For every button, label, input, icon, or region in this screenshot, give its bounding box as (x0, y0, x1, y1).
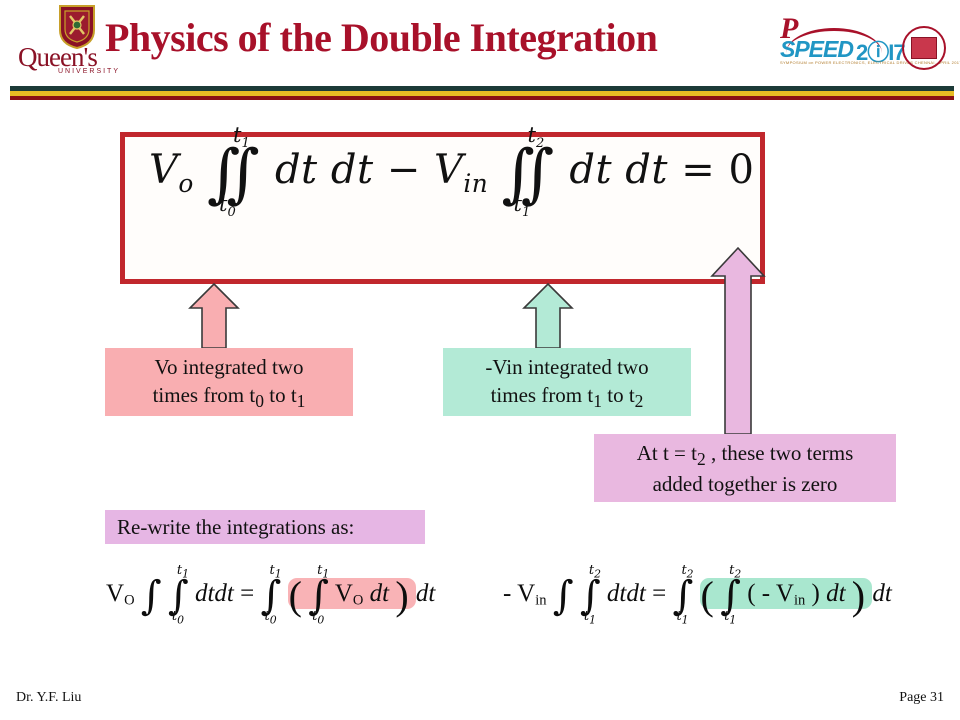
beq-left-rhs-integral-icon: ∫ t1 t0 (261, 582, 282, 610)
beq-right-open-paren: ( (701, 573, 714, 618)
rewrite-label-box: Re-write the integrations as: (105, 510, 425, 544)
page-title: Physics of the Double Integration (105, 14, 805, 61)
beq-right-inner-close-paren: ) (812, 580, 820, 607)
divider-stripe-red (10, 96, 954, 100)
rewrite-label-text: Re-write the integrations as: (117, 515, 354, 539)
footer-author: Dr. Y.F. Liu (16, 690, 81, 706)
footer-page-number: Page 31 (899, 690, 944, 706)
term1-differential: dt dt (275, 147, 374, 193)
speed-wordmark: SPEED (780, 36, 853, 63)
callout-zero-line-2: added together is zero (594, 471, 896, 499)
integral-1-lower-limit: t0 (219, 196, 236, 219)
queens-subtitle: UNIVERSITY (58, 68, 120, 75)
term1-coefficient: Vo (149, 147, 194, 193)
beq-right-equals: = (652, 580, 666, 607)
beq-left-inner-upper-limit: t1 (317, 566, 329, 578)
term2-differential: dt dt (569, 147, 668, 193)
beq-left-inner-dt: dt (370, 580, 389, 607)
bottom-equation-left: VO ∫ ∫ t1 t0 dtdt = ∫ t1 t0 ( ∫ t1 t0 VO… (106, 572, 435, 619)
up-arrow-vin-icon (520, 282, 576, 350)
beq-right-integral-outer-icon: ∫ (553, 582, 574, 610)
beq-left-upper-limit: t1 (177, 566, 189, 578)
bottom-equation-right: - Vin ∫ ∫ t2 t1 dtdt = ∫ t2 t1 ( ∫ t2 t1… (503, 572, 892, 619)
equation-equals-sign: = (681, 147, 715, 193)
term2-coefficient: Vin (434, 147, 488, 193)
callout-zero-line-1: At t = t2 , these two terms (594, 440, 896, 471)
slide-canvas: Queen's UNIVERSITY Physics of the Double… (0, 0, 960, 720)
beq-right-rhs-lower-limit: t1 (676, 612, 688, 624)
beq-left-inner-term: VO (335, 580, 364, 607)
beq-right-inner-integral-icon: ∫ t2 t1 (720, 582, 741, 610)
beq-right-inner-dt: dt (826, 580, 845, 607)
integral-2-lower-limit: t1 (514, 196, 531, 219)
double-integral-1-icon: ∫∫ t1 t0 (207, 149, 246, 200)
beq-right-upper-limit: t2 (589, 566, 601, 578)
callout-vin-line-1: -Vin integrated two (443, 354, 691, 382)
beq-left-outer-dt: dt (416, 580, 435, 607)
term2-subscript: in (463, 169, 488, 198)
beq-right-close-paren: ) (852, 573, 865, 618)
beq-left-rhs-upper-limit: t1 (270, 566, 282, 578)
beq-left-rhs-lower-limit: t0 (265, 612, 277, 624)
beq-right-rhs-upper-limit: t2 (681, 566, 693, 578)
up-arrow-zero-sum-icon (708, 246, 768, 436)
up-arrow-vo-icon (186, 282, 242, 350)
beq-right-highlight-group: ( ∫ t2 t1 ( - Vin ) dt ) (700, 578, 873, 609)
beq-right-inner-upper-limit: t2 (729, 566, 741, 578)
beq-left-lower-limit: t0 (172, 612, 184, 624)
beq-left-inner-integral-icon: ∫ t1 t0 (308, 582, 329, 610)
callout-vo-line-2: times from t0 to t1 (105, 382, 353, 413)
term1-subscript: o (178, 169, 193, 198)
crest-shield-icon (911, 37, 937, 59)
beq-left-highlight-group: ( ∫ t1 t0 VO dt ) (288, 578, 416, 609)
integral-2-upper-limit: t2 (528, 127, 545, 150)
beq-right-integral-inner-icon: ∫ t2 t1 (580, 582, 601, 610)
beq-left-equals: = (240, 580, 254, 607)
beq-left-close-paren: ) (395, 573, 408, 618)
beq-right-lower-limit: t1 (584, 612, 596, 624)
callout-vin-line-2: times from t1 to t2 (443, 382, 691, 413)
beq-left-inner-lower-limit: t0 (312, 612, 324, 624)
equation-result: 0 (728, 147, 754, 193)
speed-2017-logo: P SPEED 2ⓘI7 SYMPOSIUM on POWER ELECTRON… (772, 16, 894, 78)
callout-vo-integrated: Vo integrated two times from t0 to t1 (105, 348, 353, 416)
beq-right-inner-term: Vin (776, 580, 805, 607)
header-divider-bar (10, 86, 954, 100)
main-equation: Vo ∫∫ t1 t0 dt dt − Vin ∫∫ t2 t1 dt dt =… (149, 147, 754, 200)
beq-left-open-paren: ( (289, 573, 302, 618)
beq-right-outer-dt: dt (872, 580, 891, 607)
beq-right-inner-open-paren: ( (747, 580, 755, 607)
university-crest-logo (902, 26, 948, 74)
beq-right-differentials: dtdt (607, 580, 646, 607)
beq-right-inner-lower-limit: t1 (724, 612, 736, 624)
beq-left-integral-inner-icon: ∫ t1 t0 (168, 582, 189, 610)
main-equation-box: Vo ∫∫ t1 t0 dt dt − Vin ∫∫ t2 t1 dt dt =… (120, 132, 765, 284)
integral-1-upper-limit: t1 (233, 127, 250, 150)
beq-right-coefficient: Vin (517, 580, 546, 607)
equation-minus-operator: − (387, 147, 421, 193)
callout-vin-integrated: -Vin integrated two times from t1 to t2 (443, 348, 691, 416)
beq-right-rhs-integral-icon: ∫ t2 t1 (672, 582, 693, 610)
callout-vo-line-1: Vo integrated two (105, 354, 353, 382)
beq-left-differentials: dtdt (195, 580, 234, 607)
double-integral-2-icon: ∫∫ t2 t1 (502, 149, 541, 200)
beq-left-integral-outer-icon: ∫ (141, 582, 162, 610)
callout-zero-sum: At t = t2 , these two terms added togeth… (594, 434, 896, 502)
beq-right-inner-sign: - (762, 580, 770, 607)
beq-left-coefficient: VO (106, 580, 135, 607)
beq-right-sign: - (503, 580, 511, 607)
